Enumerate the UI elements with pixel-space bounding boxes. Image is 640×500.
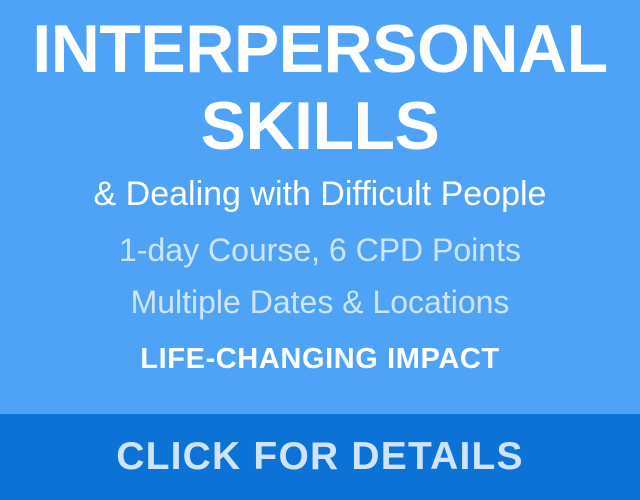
- cta-button[interactable]: CLICK FOR DETAILS: [0, 414, 640, 500]
- cta-button-label: CLICK FOR DETAILS: [116, 434, 524, 480]
- banner-message-panel: INTERPERSONAL SKILLS & Dealing with Diff…: [0, 0, 640, 414]
- course-detail-duration-credits: 1-day Course, 6 CPD Points: [8, 224, 632, 276]
- tagline: LIFE-CHANGING IMPACT: [8, 341, 632, 377]
- advertisement-banner[interactable]: INTERPERSONAL SKILLS & Dealing with Diff…: [0, 0, 640, 500]
- headline-line-1: INTERPERSONAL: [8, 11, 632, 88]
- subheadline: & Dealing with Difficult People: [8, 173, 632, 215]
- course-detail-dates-locations: Multiple Dates & Locations: [8, 276, 632, 328]
- course-detail-list: 1-day Course, 6 CPD Points Multiple Date…: [8, 224, 632, 328]
- headline-line-2: SKILLS: [8, 88, 632, 165]
- headline-block: INTERPERSONAL SKILLS: [8, 11, 632, 165]
